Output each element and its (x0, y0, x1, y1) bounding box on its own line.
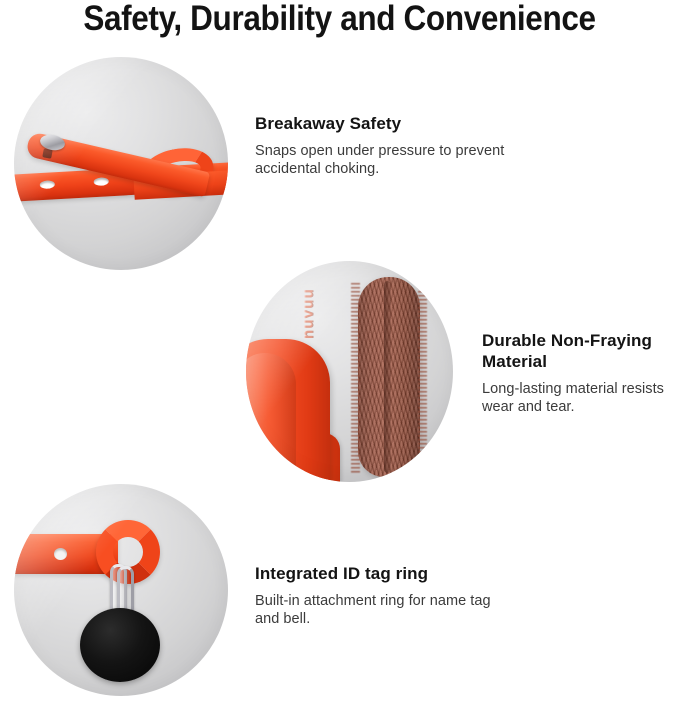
silicone-collar-highlight (246, 353, 296, 482)
page-title: Safety, Durability and Convenience (34, 0, 645, 40)
id-tag (80, 608, 160, 682)
feature-heading: Integrated ID tag ring (255, 563, 495, 584)
strap-hole-icon (54, 548, 67, 560)
feature-text-breakaway: Breakaway Safety Snaps open under pressu… (255, 113, 513, 178)
strap-hole-icon (94, 177, 109, 186)
feature-body: Snaps open under pressure to prevent acc… (255, 143, 513, 178)
id-tag-ring-photo (14, 484, 228, 696)
feature-text-material: Durable Non-Fraying Material Long-lastin… (482, 330, 679, 416)
nylon-strap-fold (384, 281, 391, 473)
feature-body: Built-in attachment ring for name tag an… (255, 593, 495, 628)
brand-emboss-text: nuvuu (300, 261, 317, 374)
feature-body: Long-lasting material resists wear and t… (482, 381, 679, 416)
breakaway-buckle-photo (14, 57, 228, 270)
strap-hole-icon (40, 180, 55, 189)
feature-heading: Durable Non-Fraying Material (482, 330, 679, 372)
silicone-collar (246, 339, 330, 482)
feature-heading: Breakaway Safety (255, 113, 513, 134)
strap-hole-icon (14, 548, 17, 560)
material-comparison-photo: nuvuu (246, 261, 453, 482)
feature-text-ring: Integrated ID tag ring Built-in attachme… (255, 563, 495, 628)
